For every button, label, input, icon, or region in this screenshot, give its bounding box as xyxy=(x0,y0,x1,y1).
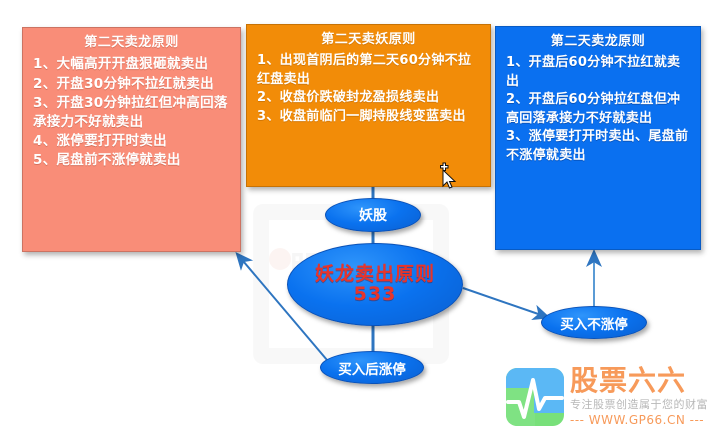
node-central-title: 妖龙卖出原则 xyxy=(315,265,435,285)
node-central-principle[interactable]: 妖龙卖出原则 533 xyxy=(287,243,463,326)
diagram-canvas: 股票六六 第二天卖龙原则 1、大幅高开开盘狠砸就卖出 2、开盘30分钟不拉红就卖… xyxy=(0,0,722,433)
logo-title: 股票六六 xyxy=(570,366,708,395)
panel-left-title: 第二天卖龙原则 xyxy=(33,34,230,52)
logo-pulse-line xyxy=(506,368,564,426)
panel-right-item-2: 2、开盘后60分钟拉红盘但冲高回落承接力不好就卖出 xyxy=(506,91,690,128)
panel-middle-item-1: 1、出现首阴后的第二天60分钟不拉红盘卖出 xyxy=(257,52,480,89)
logo-subtitle: 专注股票创造属于您的财富 xyxy=(570,396,708,412)
node-central-code: 533 xyxy=(354,285,397,305)
node-buy-after-limit-up-label: 买入后涨停 xyxy=(338,358,406,378)
panel-right-item-1: 1、开盘后60分钟不拉红就卖出 xyxy=(506,54,690,91)
node-buy-after-limit-up[interactable]: 买入后涨停 xyxy=(320,351,424,384)
node-demon-stock-label: 妖股 xyxy=(359,205,387,225)
panel-middle-item-3: 3、收盘前临门一脚持股线变蓝卖出 xyxy=(257,108,480,126)
panel-left-item-2: 2、开盘30分钟不拉红就卖出 xyxy=(33,75,230,94)
panel-sell-dragon-day2-right[interactable]: 第二天卖龙原则 1、开盘后60分钟不拉红就卖出 2、开盘后60分钟拉红盘但冲高回… xyxy=(495,26,701,250)
panel-left-item-5: 5、尾盘前不涨停就卖出 xyxy=(33,151,230,170)
connector-center-to-buy-nolimit xyxy=(463,288,547,317)
panel-sell-dragon-day2-left[interactable]: 第二天卖龙原则 1、大幅高开开盘狠砸就卖出 2、开盘30分钟不拉红就卖出 3、开… xyxy=(22,27,241,252)
panel-sell-demon-day2-middle[interactable]: 第二天卖妖原则 1、出现首阴后的第二天60分钟不拉红盘卖出 2、收盘价跌破封龙盈… xyxy=(246,24,491,187)
node-buy-no-limit-up-label: 买入不涨停 xyxy=(560,313,628,333)
panel-left-item-3: 3、开盘30分钟拉红但冲高回落承接力不好就卖出 xyxy=(33,94,230,132)
node-demon-stock[interactable]: 妖股 xyxy=(325,198,421,232)
watermark-dot xyxy=(269,248,291,270)
site-logo: 股票六六 专注股票创造属于您的财富 --- WWW.GP66.CN --- xyxy=(506,366,714,428)
panel-left-item-4: 4、涨停要打开时卖出 xyxy=(33,132,230,151)
panel-right-item-3: 3、涨停要打开时卖出、尾盘前不涨停就卖出 xyxy=(506,128,690,165)
logo-url: --- WWW.GP66.CN --- xyxy=(570,413,708,427)
chart-logo-icon xyxy=(506,368,564,426)
logo-text-block: 股票六六 专注股票创造属于您的财富 --- WWW.GP66.CN --- xyxy=(570,366,708,427)
panel-middle-item-2: 2、收盘价跌破封龙盈损线卖出 xyxy=(257,89,480,107)
panel-middle-title: 第二天卖妖原则 xyxy=(257,31,480,49)
panel-left-item-1: 1、大幅高开开盘狠砸就卖出 xyxy=(33,55,230,74)
node-buy-no-limit-up[interactable]: 买入不涨停 xyxy=(541,306,647,339)
panel-right-title: 第二天卖龙原则 xyxy=(506,33,690,51)
